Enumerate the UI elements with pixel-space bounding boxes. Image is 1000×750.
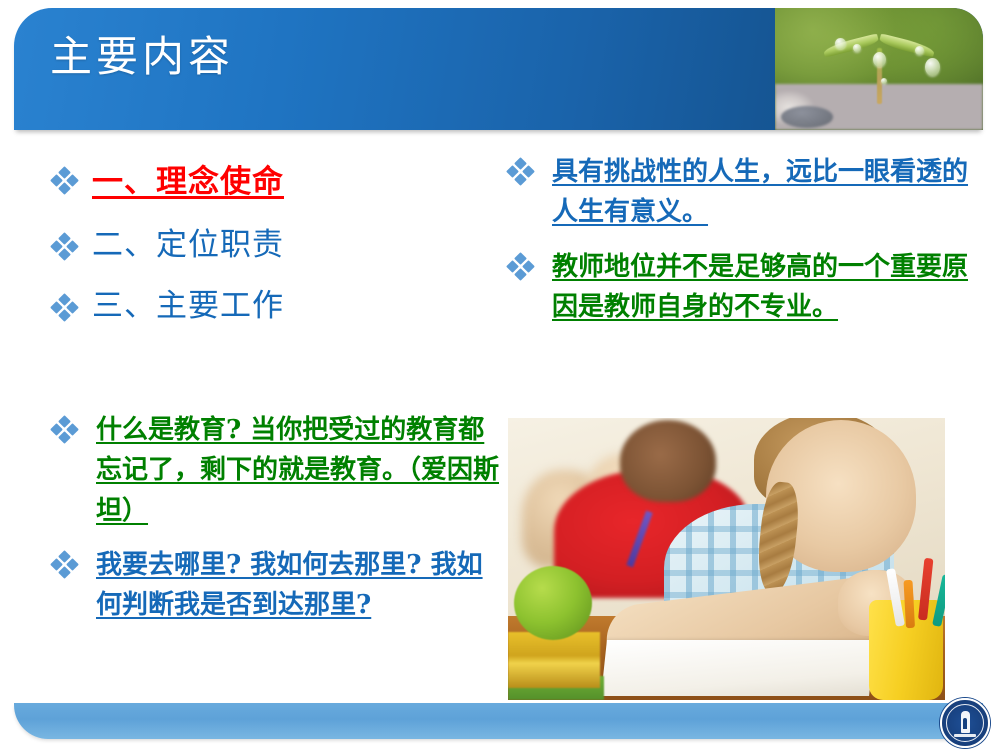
list-item[interactable]: 教师地位并不是足够高的一个重要原因是教师自身的不专业。	[508, 247, 970, 328]
dew-drop-icon	[853, 44, 861, 52]
sprout-photo-dark-pebble	[781, 106, 833, 128]
diamond-bullet-icon	[508, 254, 534, 280]
dew-drop-icon	[925, 58, 940, 76]
diamond-bullet-icon	[52, 295, 78, 321]
diamond-bullet-icon	[52, 168, 78, 194]
quote-teacher-status: 教师地位并不是足够高的一个重要原因是教师自身的不专业。	[552, 247, 970, 328]
outline-item-3-label: 三、主要工作	[92, 285, 472, 328]
quote-what-is-education: 什么是教育? 当你把受过的教育都忘记了，剩下的就是教育。（爱因斯坦）	[96, 410, 500, 531]
sprout-photo	[775, 8, 983, 130]
diamond-bullet-icon	[52, 234, 78, 260]
logo-tower-icon	[961, 711, 970, 733]
yellow-book	[508, 632, 600, 688]
outline-item-2-label: 二、定位职责	[92, 224, 472, 267]
child-in-red-shirt-head	[620, 420, 716, 502]
list-item[interactable]: 具有挑战性的人生，远比一眼看透的人生有意义。	[508, 152, 970, 233]
list-item[interactable]: 一、理念使命	[52, 158, 472, 206]
quote-where-am-i-going: 我要去哪里? 我如何去那里? 我如何判断我是否到达那里?	[96, 545, 500, 626]
presentation-slide: 主要内容 一、理念使命	[0, 0, 1000, 750]
outline-list: 一、理念使命 二、定位职责 三、主要工作	[52, 158, 472, 347]
diamond-bullet-icon	[52, 417, 78, 443]
classroom-photo	[508, 418, 945, 700]
list-item[interactable]: 我要去哪里? 我如何去那里? 我如何判断我是否到达那里?	[52, 545, 500, 626]
logo-base	[954, 734, 976, 737]
quote-challenging-life: 具有挑战性的人生，远比一眼看透的人生有意义。	[552, 152, 970, 233]
slide-header-band: 主要内容	[14, 8, 983, 130]
quotes-top-right-list: 具有挑战性的人生，远比一眼看透的人生有意义。 教师地位并不是足够高的一个重要原因…	[508, 152, 970, 341]
diamond-bullet-icon	[508, 159, 534, 185]
notebook-paper	[601, 640, 875, 696]
list-item[interactable]: 什么是教育? 当你把受过的教育都忘记了，剩下的就是教育。（爱因斯坦）	[52, 410, 500, 531]
list-item[interactable]: 三、主要工作	[52, 285, 472, 328]
dew-drop-icon	[835, 38, 846, 49]
institution-seal-logo	[940, 698, 990, 748]
dew-drop-icon	[915, 46, 924, 55]
green-apple-icon	[514, 566, 592, 640]
slide-content: 一、理念使命 二、定位职责 三、主要工作 具有挑战性的人生，远	[0, 130, 1000, 700]
list-item[interactable]: 二、定位职责	[52, 224, 472, 267]
dew-drop-icon	[873, 52, 886, 67]
page-title: 主要内容	[50, 32, 234, 82]
outline-item-1-label: 一、理念使命	[92, 158, 472, 206]
slide-footer-band	[14, 703, 983, 739]
dew-drop-icon	[881, 78, 887, 84]
quotes-bottom-left-list: 什么是教育? 当你把受过的教育都忘记了，剩下的就是教育。（爱因斯坦） 我要去哪里…	[52, 410, 500, 639]
diamond-bullet-icon	[52, 552, 78, 578]
